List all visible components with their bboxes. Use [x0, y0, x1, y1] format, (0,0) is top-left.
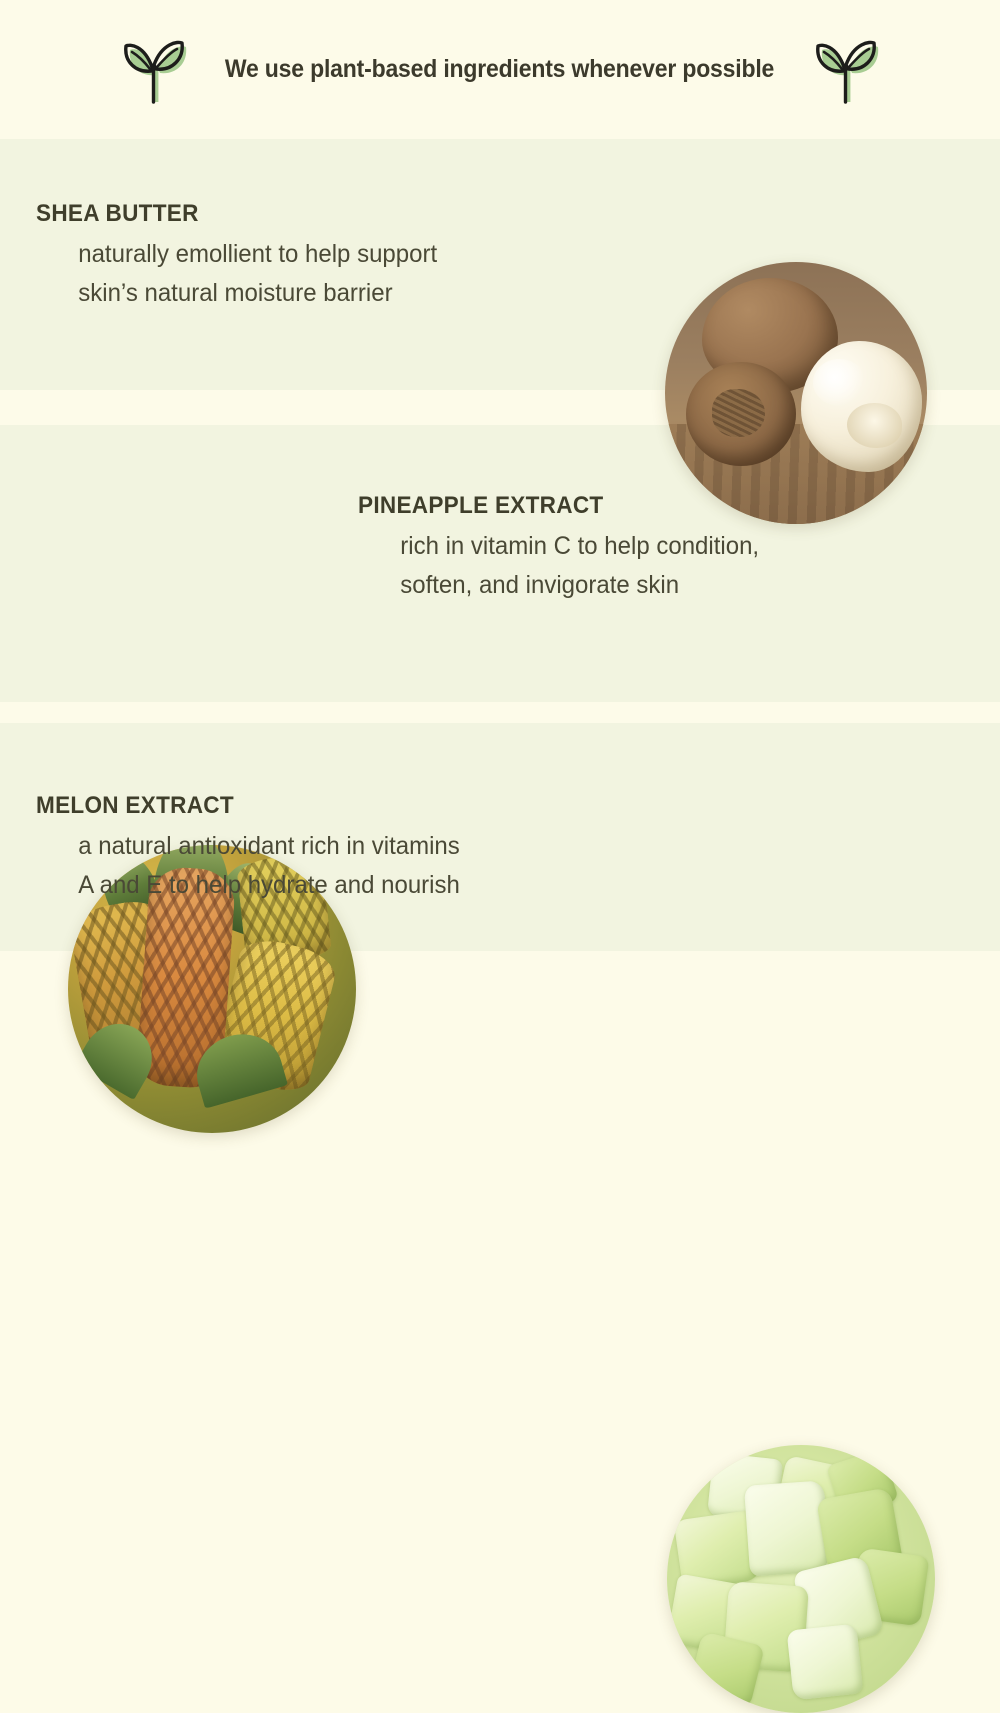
header-banner: We use plant-based ingredients whenever …: [0, 0, 1000, 139]
sprout-leaf-icon-right: [813, 34, 879, 106]
ingredient-row-pineapple: PINEAPPLE EXTRACT rich in vitamin C to h…: [0, 425, 1000, 702]
ingredient-name: SHEA BUTTER: [36, 201, 600, 227]
ingredient-row-shea: SHEA BUTTER naturally emollient to help …: [0, 139, 1000, 390]
ingredient-text-shea: SHEA BUTTER naturally emollient to help …: [36, 201, 636, 313]
ingredient-text-melon: MELON EXTRACT a natural antioxidant rich…: [36, 793, 636, 905]
ingredient-description: rich in vitamin C to help condition, sof…: [358, 527, 934, 605]
ingredient-text-pineapple: PINEAPPLE EXTRACT rich in vitamin C to h…: [358, 493, 958, 605]
melon-photo: [667, 1445, 935, 1713]
ingredient-description: naturally emollient to help support skin…: [36, 235, 612, 313]
infographic-page: We use plant-based ingredients whenever …: [0, 0, 1000, 1000]
ingredient-name: PINEAPPLE EXTRACT: [358, 493, 922, 519]
header-title: We use plant-based ingredients whenever …: [225, 55, 774, 84]
ingredient-row-melon: MELON EXTRACT a natural antioxidant rich…: [0, 723, 1000, 951]
ingredient-description-line: soften, and invigorate skin: [400, 566, 934, 605]
ingredient-description: a natural antioxidant rich in vitamins A…: [36, 827, 612, 905]
ingredient-description-line: skin’s natural moisture barrier: [78, 274, 612, 313]
sprout-leaf-icon-left: [121, 34, 187, 106]
ingredient-description-line: naturally emollient to help support: [78, 235, 612, 274]
ingredient-description-line: rich in vitamin C to help condition,: [400, 527, 934, 566]
ingredient-description-line: A and E to help hydrate and nourish: [78, 866, 612, 905]
ingredient-description-line: a natural antioxidant rich in vitamins: [78, 827, 612, 866]
ingredient-name: MELON EXTRACT: [36, 793, 600, 819]
